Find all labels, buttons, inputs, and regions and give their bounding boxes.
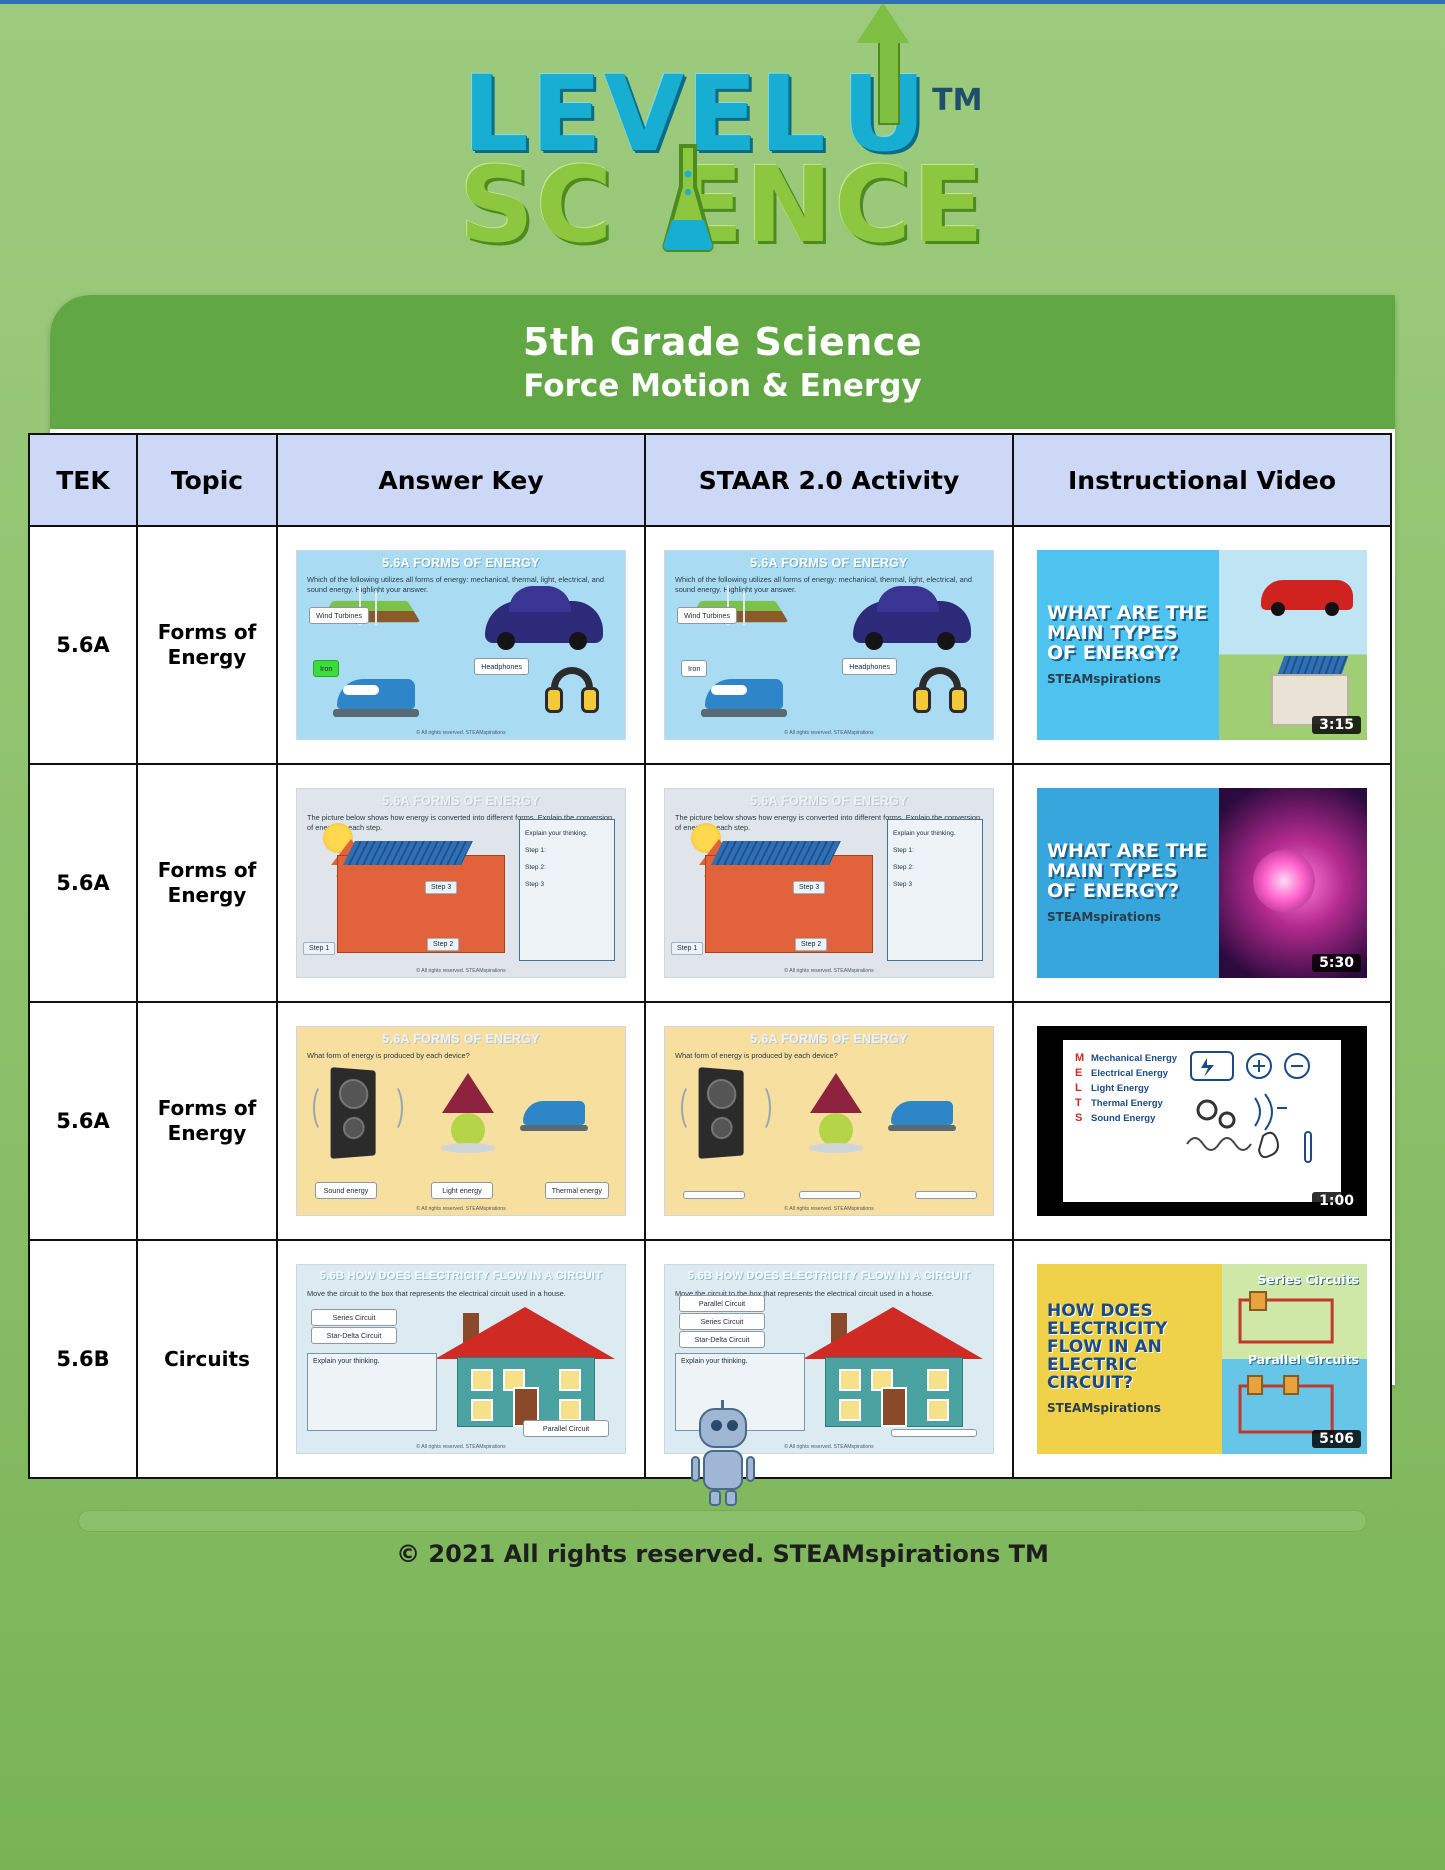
step-label-1: Step 1: [671, 942, 703, 955]
house-icon: [809, 1307, 979, 1427]
chip-wind-turbines[interactable]: Wind Turbines: [677, 607, 737, 624]
answer-key-slide[interactable]: 5.6A FORMS OF ENERGY The picture below s…: [296, 788, 626, 978]
solar-panel-icon: [343, 841, 473, 865]
iron-icon: [337, 679, 415, 709]
table-header-row: TEK Topic Answer Key STAAR 2.0 Activity …: [29, 434, 1391, 526]
chip-iron[interactable]: Iron: [681, 660, 707, 677]
video-headline: WHAT ARE THE MAIN TYPES OF ENERGY?: [1047, 842, 1209, 902]
explain-step-1: Step 1:: [525, 842, 609, 859]
melts-term: Light Energy: [1091, 1083, 1149, 1094]
slide-prompt: Which of the following utilizes all form…: [675, 575, 983, 595]
activity-slide[interactable]: 5.6A FORMS OF ENERGY Which of the follow…: [664, 550, 994, 740]
topic-label: Forms of Energy: [138, 1096, 276, 1146]
slide-credit: © All rights reserved. STEAMspirations: [297, 1206, 625, 1212]
explain-step-1: Step 1:: [893, 842, 977, 859]
solar-panel-icon: [1278, 656, 1349, 674]
melts-term: Electrical Energy: [1091, 1068, 1168, 1079]
slide-prompt: Which of the following utilizes all form…: [307, 575, 615, 595]
cell-tek: 5.6A: [29, 1002, 137, 1240]
video-caption: WHAT ARE THE MAIN TYPES OF ENERGY? STEAM…: [1037, 788, 1219, 978]
slide-prompt: Move the circuit to the box that represe…: [307, 1289, 615, 1299]
video-caption: WHAT ARE THE MAIN TYPES OF ENERGY? STEAM…: [1037, 550, 1219, 740]
cell-tek: 5.6B: [29, 1240, 137, 1478]
red-car-icon: [1261, 580, 1353, 610]
table-row: 5.6A Forms of Energy 5.6A FORMS OF ENERG…: [29, 764, 1391, 1002]
video-brand: STEAMspirations: [1047, 910, 1209, 924]
iron-icon: [705, 679, 783, 709]
video-brand: STEAMspirations: [1047, 1401, 1209, 1415]
table-row: 5.6A Forms of Energy 5.6A FORMS OF ENERG…: [29, 1002, 1391, 1240]
column-header-tek: TEK: [29, 434, 137, 526]
page-subtitle: Force Motion & Energy: [523, 368, 921, 404]
cell-answer-key[interactable]: 5.6A FORMS OF ENERGY What form of energy…: [277, 1002, 645, 1240]
turbine-mast-icon: [375, 591, 377, 625]
answer-blank-3[interactable]: [915, 1191, 977, 1199]
video-duration: 5:06: [1312, 1430, 1361, 1448]
melts-list: M Mechanical Energy E Electrical Energy …: [1075, 1052, 1177, 1127]
turbine-mast-icon: [743, 591, 745, 625]
cell-tek: 5.6A: [29, 764, 137, 1002]
chip-series-circuit[interactable]: Series Circuit: [311, 1309, 397, 1326]
chip-series-circuit[interactable]: Series Circuit: [679, 1313, 765, 1330]
activity-slide[interactable]: 5.6A FORMS OF ENERGY The picture below s…: [664, 788, 994, 978]
explain-your-thinking-box[interactable]: Explain your thinking.: [307, 1353, 437, 1431]
sound-wave-icon: [681, 1083, 703, 1133]
step-label-2: Step 2: [795, 938, 827, 951]
cell-answer-key[interactable]: 5.6B HOW DOES ELECTRICITY FLOW IN A CIRC…: [277, 1240, 645, 1478]
video-art: [1219, 788, 1368, 978]
lamp-base-icon: [819, 1113, 853, 1147]
sound-wave-icon: [381, 1083, 403, 1133]
melts-item: S Sound Energy: [1075, 1112, 1177, 1124]
melts-letter: S: [1075, 1112, 1086, 1124]
video-duration: 3:15: [1312, 716, 1361, 734]
cell-topic: Circuits: [137, 1240, 277, 1478]
headphones-icon: [913, 667, 967, 713]
answer-key-slide[interactable]: 5.6A FORMS OF ENERGY Which of the follow…: [296, 550, 626, 740]
slide-title: 5.6A FORMS OF ENERGY: [665, 1032, 993, 1046]
slide-prompt: What form of energy is produced by each …: [675, 1051, 983, 1061]
resource-table: TEK Topic Answer Key STAAR 2.0 Activity …: [28, 433, 1392, 1479]
footer-bar: [78, 1510, 1367, 1532]
chip-iron[interactable]: Iron: [313, 660, 339, 677]
tek-code: 5.6B: [30, 1347, 136, 1371]
cell-topic: Forms of Energy: [137, 526, 277, 764]
column-header-answer-key: Answer Key: [277, 434, 645, 526]
tek-code: 5.6A: [30, 871, 136, 895]
answer-drop-zone[interactable]: [891, 1429, 977, 1437]
step-label-2: Step 2: [427, 938, 459, 951]
tek-code: 5.6A: [30, 1109, 136, 1133]
chip-sound-energy[interactable]: Sound energy: [315, 1182, 377, 1199]
chip-wind-turbines[interactable]: Wind Turbines: [309, 607, 369, 624]
iron-icon: [523, 1101, 585, 1125]
melts-letter: M: [1075, 1052, 1086, 1064]
step-label-3: Step 3: [425, 881, 457, 894]
explain-your-thinking-box[interactable]: Explain your thinking. Step 1: Step 2: S…: [887, 819, 983, 961]
chip-headphones[interactable]: Headphones: [842, 658, 897, 675]
answer-blank-1[interactable]: [683, 1191, 745, 1199]
page-title: 5th Grade Science: [523, 320, 922, 364]
cell-video[interactable]: M Mechanical Energy E Electrical Energy …: [1013, 1002, 1391, 1240]
trademark-symbol: TM: [932, 83, 982, 118]
activity-slide[interactable]: 5.6A FORMS OF ENERGY What form of energy…: [664, 1026, 994, 1216]
video-caption: HOW DOES ELECTRICITY FLOW IN AN ELECTRIC…: [1037, 1264, 1219, 1454]
column-header-staar: STAAR 2.0 Activity: [645, 434, 1013, 526]
slide-credit: © All rights reserved. STEAMspirations: [297, 730, 625, 736]
footer-copyright: © 2021 All rights reserved. STEAMspirati…: [0, 1540, 1445, 1568]
melts-item: L Light Energy: [1075, 1082, 1177, 1094]
tek-code: 5.6A: [30, 633, 136, 657]
explain-title: Explain your thinking.: [313, 1358, 380, 1365]
cell-staar-activity[interactable]: 5.6A FORMS OF ENERGY Which of the follow…: [645, 526, 1013, 764]
cell-answer-key[interactable]: 5.6A FORMS OF ENERGY Which of the follow…: [277, 526, 645, 764]
chip-headphones[interactable]: Headphones: [474, 658, 529, 675]
video-label-series: Series Circuits: [1257, 1272, 1359, 1287]
slide-credit: © All rights reserved. STEAMspirations: [665, 968, 993, 974]
answer-blank-2[interactable]: [799, 1191, 861, 1199]
lamp-foot-icon: [809, 1143, 863, 1153]
explain-step-3: Step 3: [525, 876, 609, 893]
slide-title: 5.6A FORMS OF ENERGY: [665, 556, 993, 570]
lamp-foot-icon: [441, 1143, 495, 1153]
melts-letter: T: [1075, 1097, 1086, 1109]
chip-parallel-circuit-answer[interactable]: Parallel Circuit: [523, 1420, 609, 1437]
video-thumbnail[interactable]: M Mechanical Energy E Electrical Energy …: [1037, 1026, 1367, 1216]
melts-letter: L: [1075, 1082, 1086, 1094]
robot-mascot-icon: [691, 1400, 755, 1508]
video-art: [1219, 550, 1368, 740]
cell-video[interactable]: Series Circuits Parallel Circuits HOW DO…: [1013, 1240, 1391, 1478]
cell-staar-activity[interactable]: 5.6A FORMS OF ENERGY What form of energy…: [645, 1002, 1013, 1240]
explain-title: Explain your thinking.: [681, 1358, 748, 1365]
explain-title: Explain your thinking.: [525, 825, 609, 842]
logo-science-tail: ENCE: [672, 156, 985, 255]
video-headline: WHAT ARE THE MAIN TYPES OF ENERGY?: [1047, 604, 1209, 664]
whiteboard-art: M Mechanical Energy E Electrical Energy …: [1063, 1040, 1341, 1202]
table-row: 5.6A Forms of Energy 5.6A FORMS OF ENERG…: [29, 526, 1391, 764]
answer-key-slide[interactable]: 5.6A FORMS OF ENERGY What form of energy…: [296, 1026, 626, 1216]
logo-line-two: SC ENCE: [459, 156, 986, 255]
chip-parallel-circuit[interactable]: Parallel Circuit: [679, 1295, 765, 1312]
video-brand: STEAMspirations: [1047, 672, 1209, 686]
cell-video[interactable]: WHAT ARE THE MAIN TYPES OF ENERGY? STEAM…: [1013, 764, 1391, 1002]
topic-label: Forms of Energy: [138, 858, 276, 908]
explain-title: Explain your thinking.: [893, 825, 977, 842]
video-label-parallel: Parallel Circuits: [1248, 1352, 1359, 1367]
column-header-video: Instructional Video: [1013, 434, 1391, 526]
video-thumbnail[interactable]: WHAT ARE THE MAIN TYPES OF ENERGY? STEAM…: [1037, 550, 1367, 740]
slide-credit: © All rights reserved. STEAMspirations: [297, 1444, 625, 1450]
cell-answer-key[interactable]: 5.6A FORMS OF ENERGY The picture below s…: [277, 764, 645, 1002]
step-label-3: Step 3: [793, 881, 825, 894]
melts-item: M Mechanical Energy: [1075, 1052, 1177, 1064]
sound-wave-icon: [313, 1083, 335, 1133]
slide-title: 5.6A FORMS OF ENERGY: [665, 794, 993, 808]
video-thumbnail[interactable]: Series Circuits Parallel Circuits HOW DO…: [1037, 1264, 1367, 1454]
explain-your-thinking-box[interactable]: Explain your thinking. Step 1: Step 2: S…: [519, 819, 615, 961]
step-label-1: Step 1: [303, 942, 335, 955]
explain-step-2: Step 2:: [893, 859, 977, 876]
slide-title: 5.6B HOW DOES ELECTRICITY FLOW IN A CIRC…: [665, 1270, 993, 1282]
slide-prompt: What form of energy is produced by each …: [307, 1051, 615, 1061]
cell-topic: Forms of Energy: [137, 764, 277, 1002]
slide-title: 5.6A FORMS OF ENERGY: [297, 556, 625, 570]
slide-credit: © All rights reserved. STEAMspirations: [665, 730, 993, 736]
explain-step-3: Step 3: [893, 876, 977, 893]
chip-thermal-energy[interactable]: Thermal energy: [545, 1182, 609, 1199]
house-icon: [337, 855, 505, 953]
speaker-icon: [699, 1067, 744, 1159]
solar-panel-icon: [711, 841, 841, 865]
explain-step-2: Step 2:: [525, 859, 609, 876]
logo-science-head: SC: [459, 156, 614, 255]
lamp-shade-icon: [442, 1073, 494, 1113]
topic-label: Forms of Energy: [138, 620, 276, 670]
chip-star-delta-circuit[interactable]: Star-Delta Circuit: [679, 1331, 765, 1348]
melts-item: T Thermal Energy: [1075, 1097, 1177, 1109]
sound-wave-icon: [749, 1083, 771, 1133]
headphones-icon: [545, 667, 599, 713]
slide-title: 5.6A FORMS OF ENERGY: [297, 1032, 625, 1046]
column-header-topic: Topic: [137, 434, 277, 526]
melts-letter: E: [1075, 1067, 1086, 1079]
cell-staar-activity[interactable]: 5.6A FORMS OF ENERGY The picture below s…: [645, 764, 1013, 1002]
house-icon: [441, 1307, 611, 1427]
melts-term: Mechanical Energy: [1091, 1053, 1177, 1064]
topic-label: Circuits: [138, 1347, 276, 1372]
video-thumbnail[interactable]: WHAT ARE THE MAIN TYPES OF ENERGY? STEAM…: [1037, 788, 1367, 978]
plasma-globe-icon: [1253, 850, 1315, 912]
slide-credit: © All rights reserved. STEAMspirations: [297, 968, 625, 974]
chip-light-energy[interactable]: Light energy: [431, 1182, 493, 1199]
video-duration: 1:00: [1312, 1192, 1361, 1210]
video-headline: HOW DOES ELECTRICITY FLOW IN AN ELECTRIC…: [1047, 1303, 1209, 1392]
slide-title: 5.6B HOW DOES ELECTRICITY FLOW IN A CIRC…: [297, 1270, 625, 1282]
brand-logo: LEVEL U TM SC ENCE: [0, 30, 1445, 290]
slide-title: 5.6A FORMS OF ENERGY: [297, 794, 625, 808]
melts-item: E Electrical Energy: [1075, 1067, 1177, 1079]
melts-term: Sound Energy: [1091, 1113, 1155, 1124]
lamp-base-icon: [451, 1113, 485, 1147]
cell-video[interactable]: WHAT ARE THE MAIN TYPES OF ENERGY? STEAM…: [1013, 526, 1391, 764]
video-duration: 5:30: [1312, 954, 1361, 972]
speaker-icon: [331, 1067, 376, 1159]
slide-credit: © All rights reserved. STEAMspirations: [665, 1206, 993, 1212]
answer-key-slide[interactable]: 5.6B HOW DOES ELECTRICITY FLOW IN A CIRC…: [296, 1264, 626, 1454]
car-icon: [853, 601, 971, 643]
cell-topic: Forms of Energy: [137, 1002, 277, 1240]
title-banner: 5th Grade Science Force Motion & Energy: [50, 295, 1395, 429]
chip-star-delta-circuit[interactable]: Star-Delta Circuit: [311, 1327, 397, 1344]
car-icon: [485, 601, 603, 643]
cell-tek: 5.6A: [29, 526, 137, 764]
top-rule: [0, 0, 1445, 4]
energy-symbols-icons: [1185, 1048, 1335, 1168]
lamp-shade-icon: [810, 1073, 862, 1113]
iron-icon: [891, 1101, 953, 1125]
house-icon: [705, 855, 873, 953]
melts-term: Thermal Energy: [1091, 1098, 1163, 1109]
flask-icon: [659, 140, 717, 256]
